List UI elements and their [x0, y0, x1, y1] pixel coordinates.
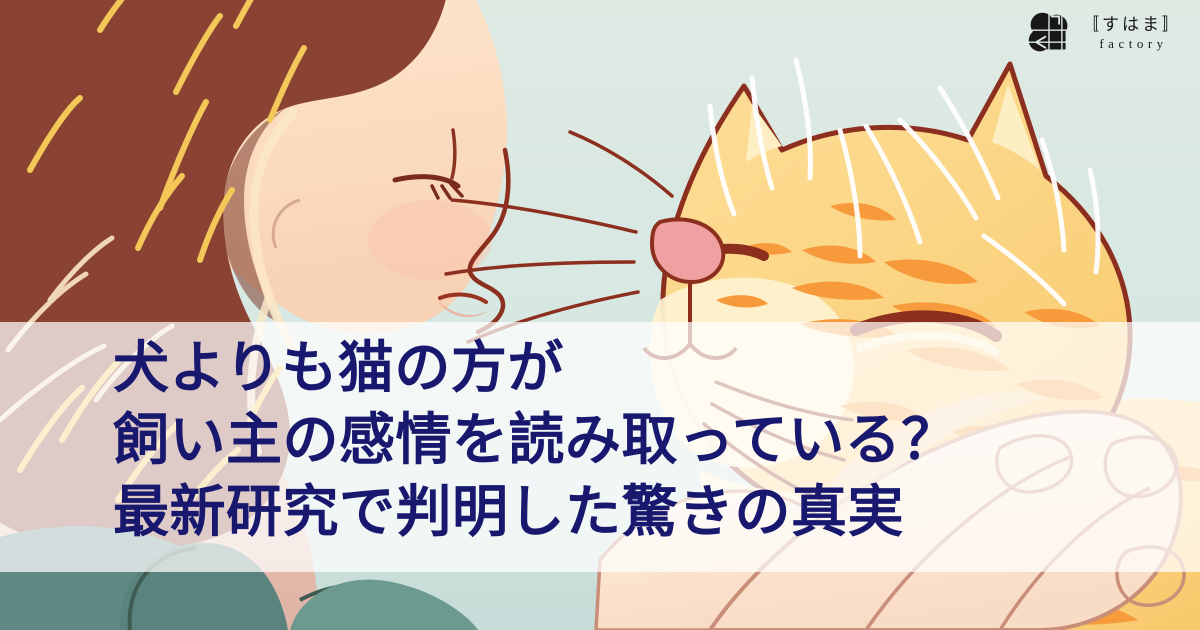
headline-line-3: 最新研究で判明した驚きの真実: [113, 476, 1113, 548]
headline-line-1: 犬よりも猫の方が: [113, 332, 1113, 404]
logo-sub: factory: [1096, 35, 1167, 52]
article-header-image: 犬よりも猫の方が 飼い主の感情を読み取っている？ 最新研究で判明した驚きの真実 …: [0, 0, 1200, 630]
woman-cheek-blush: [368, 200, 492, 280]
cat-nose: [652, 219, 723, 282]
headline-line-2: 飼い主の感情を読み取っている？: [113, 404, 1113, 476]
logo-wordmark: 〚すはま〛 factory: [1082, 15, 1182, 52]
suhama-factory-mark-icon: [1026, 10, 1072, 56]
logo-brand: 〚すはま〛: [1082, 15, 1182, 35]
logo[interactable]: 〚すはま〛 factory: [1026, 10, 1182, 56]
headline: 犬よりも猫の方が 飼い主の感情を読み取っている？ 最新研究で判明した驚きの真実: [113, 332, 1113, 548]
